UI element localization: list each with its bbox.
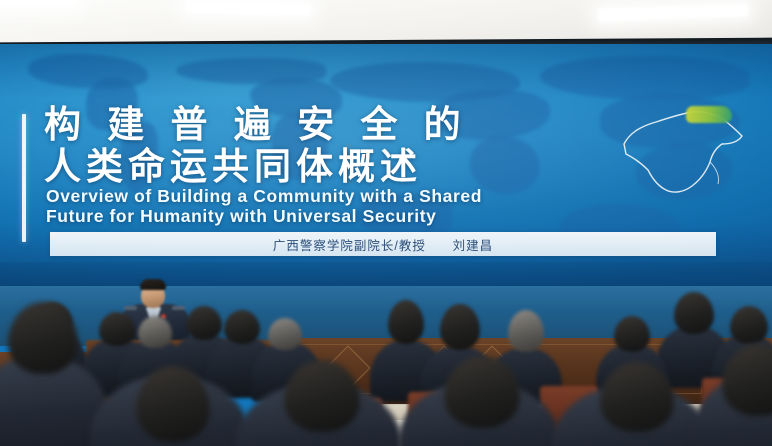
audience-member-head	[730, 306, 768, 344]
ceiling-light	[598, 3, 748, 21]
audience-member-head	[186, 306, 222, 340]
slide-title-line2: 人类命运共同体概述	[44, 146, 704, 188]
slide-title-line1: 构 建 普 遍 安 全 的	[44, 104, 704, 146]
audience-member-head	[268, 318, 302, 350]
audience-member-head	[440, 304, 480, 350]
slide-subtitle-line2: Future for Humanity with Universal Secur…	[46, 206, 726, 226]
audience-member-head	[99, 312, 135, 346]
slide-title: 构 建 普 遍 安 全 的 人类命运共同体概述	[44, 104, 704, 188]
lecture-hall-photo: 构 建 普 遍 安 全 的 人类命运共同体概述 Overview of Buil…	[0, 0, 772, 446]
audience-member-head	[674, 292, 714, 334]
slide-credit-band: 广西警察学院副院长/教授 刘建昌	[50, 232, 716, 256]
audience-member-head	[388, 300, 424, 344]
slide-subtitle-line1: Overview of Building a Community with a …	[46, 186, 726, 206]
slide-credit-text: 广西警察学院副院长/教授 刘建昌	[50, 232, 716, 256]
audience-member-head	[138, 316, 172, 348]
ceiling-light	[186, 1, 310, 16]
title-accent-bar	[22, 114, 26, 242]
ceiling-light	[0, 0, 76, 7]
audience-member-head	[224, 310, 260, 344]
projection-screen: 构 建 普 遍 安 全 的 人类命运共同体概述 Overview of Buil…	[0, 44, 772, 292]
audience-member-head	[614, 316, 650, 352]
audience-member-head	[508, 310, 544, 352]
slide-subtitle: Overview of Building a Community with a …	[46, 186, 726, 226]
